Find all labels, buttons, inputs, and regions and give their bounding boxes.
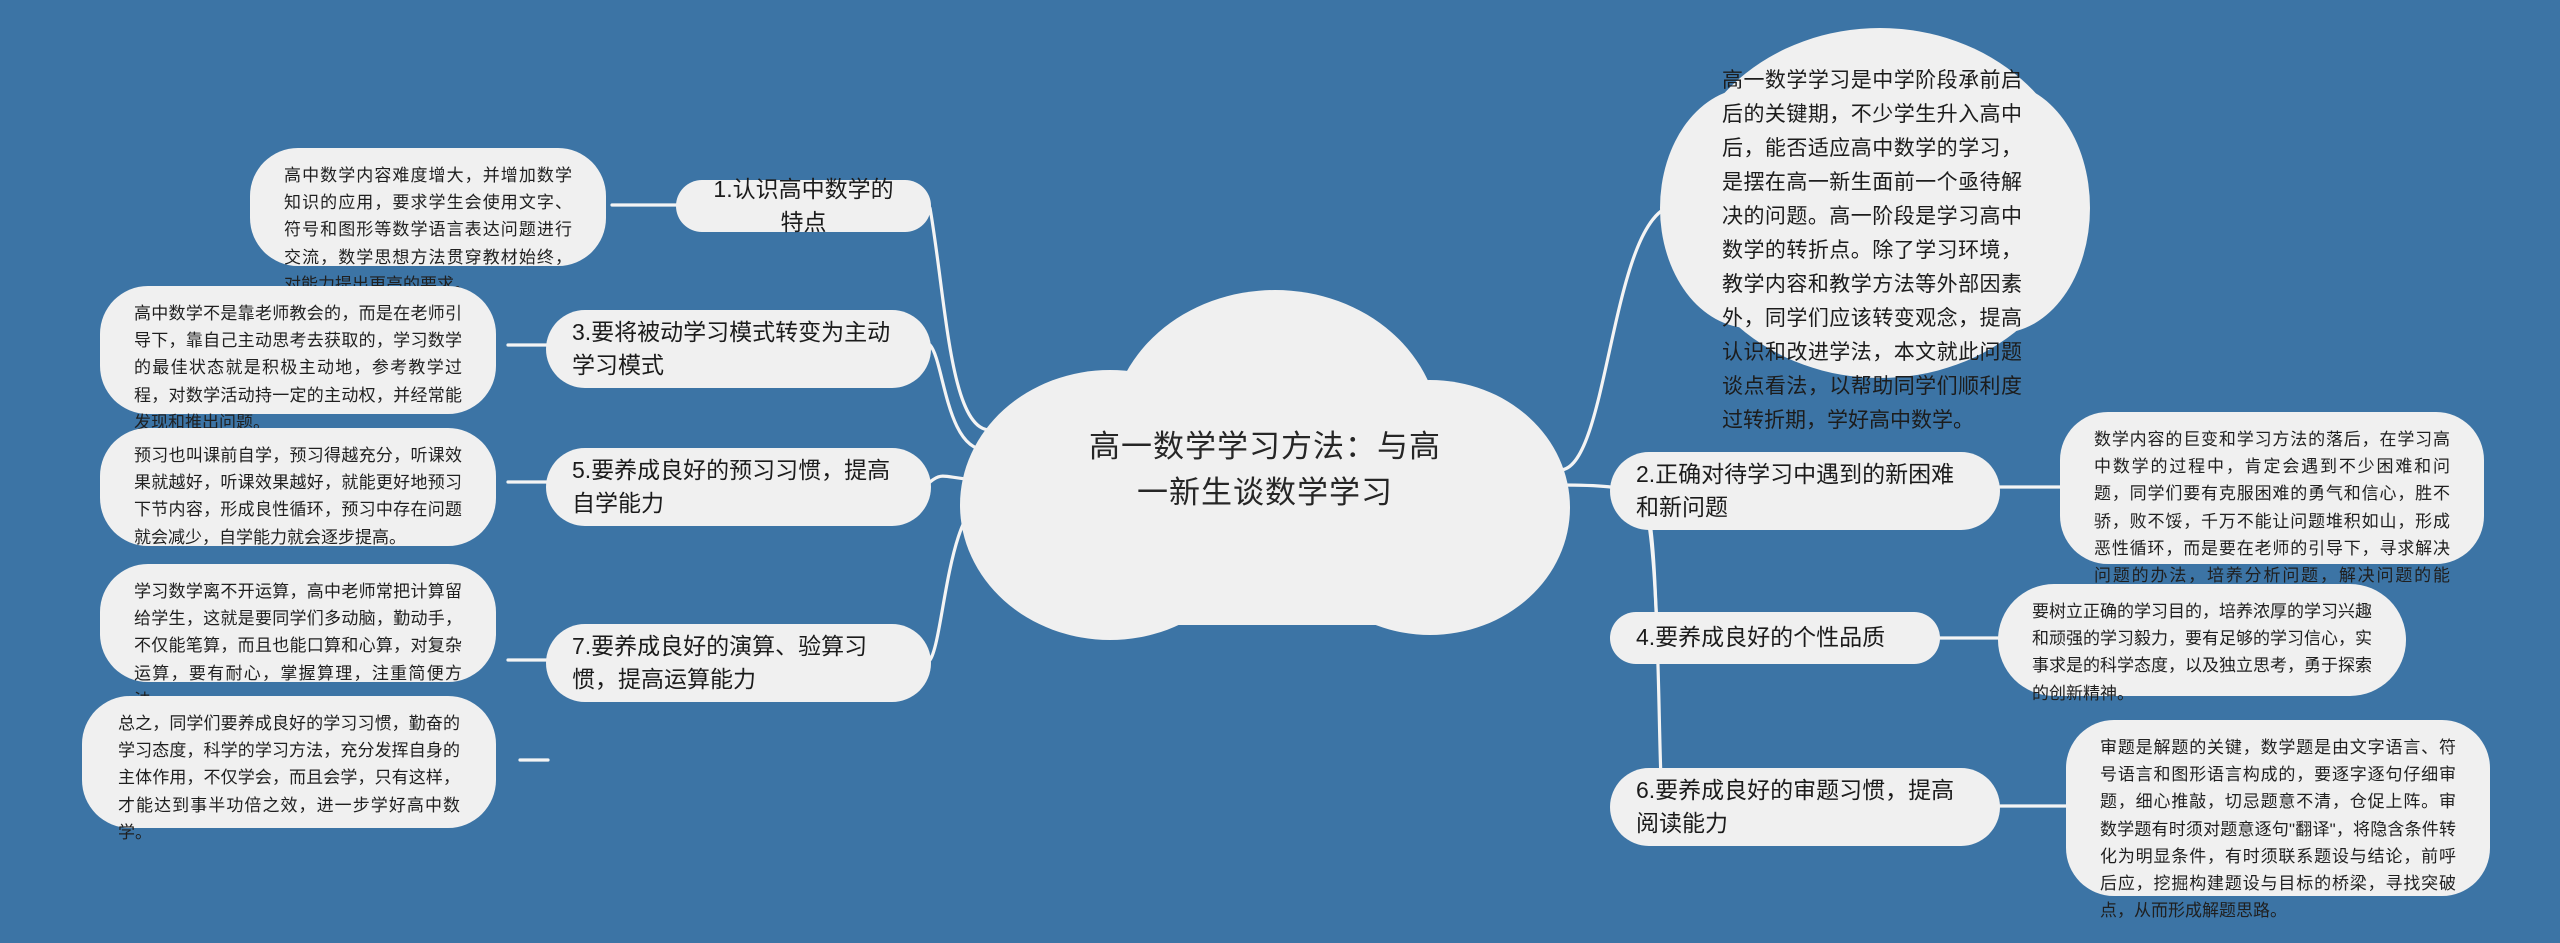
branch-6-label: 6.要养成良好的审题习惯，提高阅读能力 [1636, 774, 1974, 841]
leaf-detail-1-text: 高中数学内容难度增大，并增加数学知识的应用，要求学生会使用文字、符号和图形等数学… [284, 162, 572, 298]
leaf-detail-6[interactable]: 审题是解题的关键，数学题是由文字语言、符号语言和图形语言构成的，要逐字逐句仔细审… [2066, 720, 2490, 896]
leaf-detail-3-text: 高中数学不是靠老师教会的，而是在老师引导下，靠自己主动思考去获取的，学习数学的最… [134, 300, 462, 436]
page-title: 高一数学学习方法：与高 一新生谈数学学习 [1089, 424, 1441, 517]
leaf-detail-4[interactable]: 要树立正确的学习目的，培养浓厚的学习兴趣和顽强的学习毅力，要有足够的学习信心，实… [1998, 584, 2406, 696]
branch-1[interactable]: 1.认识高中数学的特点 [676, 180, 931, 232]
branch-2-label: 2.正确对待学习中遇到的新困难和新问题 [1636, 458, 1974, 525]
branch-2[interactable]: 2.正确对待学习中遇到的新困难和新问题 [1610, 452, 2000, 530]
branch-5[interactable]: 5.要养成良好的预习习惯，提高自学能力 [546, 448, 931, 526]
central-cloud: 高一数学学习方法：与高 一新生谈数学学习 [960, 290, 1570, 650]
leaf-detail-1[interactable]: 高中数学内容难度增大，并增加数学知识的应用，要求学生会使用文字、符号和图形等数学… [250, 148, 606, 266]
branch-5-label: 5.要养成良好的预习习惯，提高自学能力 [572, 454, 905, 521]
leaf-detail-7[interactable]: 学习数学离不开运算，高中老师常把计算留给学生，这就是要同学们多动脑，勤动手，不仅… [100, 564, 496, 682]
leaf-detail-4-text: 要树立正确的学习目的，培养浓厚的学习兴趣和顽强的学习毅力，要有足够的学习信心，实… [2032, 598, 2372, 707]
leaf-detail-6-text: 审题是解题的关键，数学题是由文字语言、符号语言和图形语言构成的，要逐字逐句仔细审… [2100, 734, 2456, 924]
branch-3[interactable]: 3.要将被动学习模式转变为主动学习模式 [546, 310, 931, 388]
branch-6[interactable]: 6.要养成良好的审题习惯，提高阅读能力 [1610, 768, 2000, 846]
leaf-summary-text: 总之，同学们要养成良好的学习习惯，勤奋的学习态度，科学的学习方法，充分发挥自身的… [118, 710, 460, 846]
branch-7[interactable]: 7.要养成良好的演算、验算习惯，提高运算能力 [546, 624, 931, 702]
intro-text: 高一数学学习是中学阶段承前启后的关键期，不少学生升入高中后，能否适应高中数学的学… [1722, 64, 2022, 438]
branch-3-label: 3.要将被动学习模式转变为主动学习模式 [572, 316, 905, 383]
leaf-detail-2[interactable]: 数学内容的巨变和学习方法的落后，在学习高中数学的过程中，肯定会遇到不少困难和问题… [2060, 412, 2484, 564]
branch-4-label: 4.要养成良好的个性品质 [1636, 621, 1885, 654]
leaf-detail-3[interactable]: 高中数学不是靠老师教会的，而是在老师引导下，靠自己主动思考去获取的，学习数学的最… [100, 286, 496, 414]
branch-4[interactable]: 4.要养成良好的个性品质 [1610, 612, 1940, 664]
branch-1-label: 1.认识高中数学的特点 [702, 173, 905, 240]
link-center-intro [1560, 205, 1676, 470]
leaf-summary[interactable]: 总之，同学们要养成良好的学习习惯，勤奋的学习态度，科学的学习方法，充分发挥自身的… [82, 696, 496, 828]
mindmap-canvas: 高一数学学习方法：与高 一新生谈数学学习 高一数学学习是中学阶段承前启后的关键期… [0, 0, 2560, 943]
intro-cloud: 高一数学学习是中学阶段承前启后的关键期，不少学生升入高中后，能否适应高中数学的学… [1660, 28, 2090, 378]
leaf-detail-7-text: 学习数学离不开运算，高中老师常把计算留给学生，这就是要同学们多动脑，勤动手，不仅… [134, 578, 462, 714]
branch-7-label: 7.要养成良好的演算、验算习惯，提高运算能力 [572, 630, 905, 697]
leaf-detail-5-text: 预习也叫课前自学，预习得越充分，听课效果就越好，听课效果越好，就能更好地预习下节… [134, 442, 462, 551]
leaf-detail-5[interactable]: 预习也叫课前自学，预习得越充分，听课效果就越好，听课效果越好，就能更好地预习下节… [100, 428, 496, 546]
